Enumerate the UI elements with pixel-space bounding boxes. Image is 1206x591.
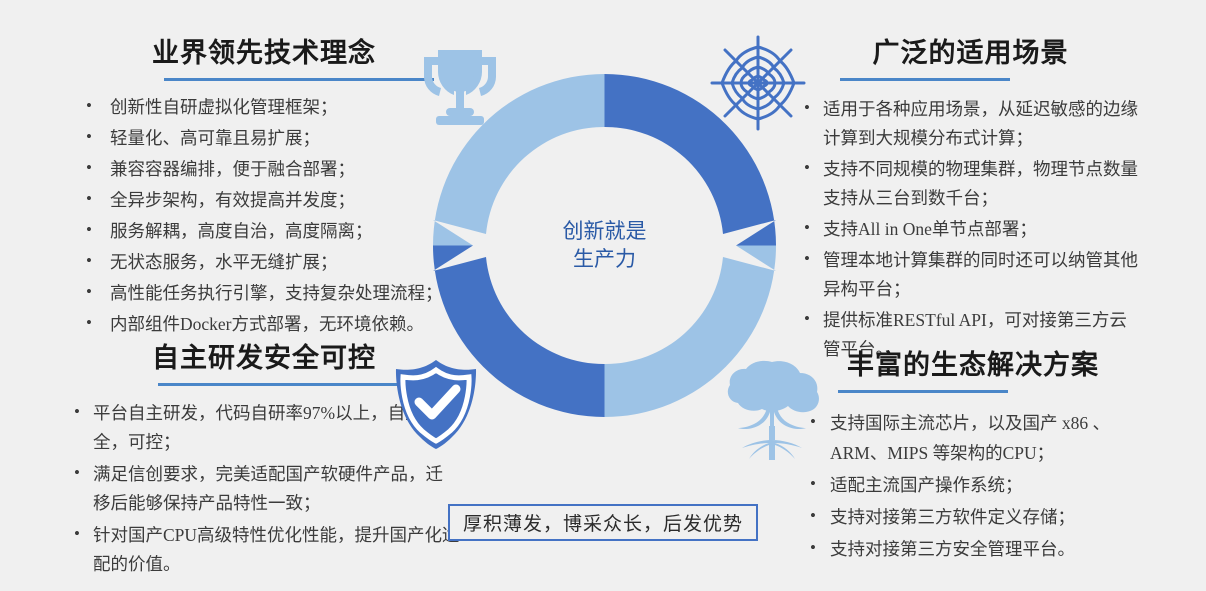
slide-canvas: 业界领先技术理念 创新性自研虚拟化管理框架； 轻量化、高可靠且易扩展； 兼容容器… — [0, 0, 1206, 591]
list-item: 高性能任务执行引擎，支持复杂处理流程； — [68, 279, 460, 308]
title-underline-top-right — [840, 78, 1010, 81]
list-item: 兼容容器编排，便于融合部署； — [68, 155, 460, 184]
slogan-text: 厚积薄发，博采众长，后发优势 — [463, 509, 743, 536]
list-item: 全异步架构，有效提高并发度； — [68, 186, 460, 215]
list-item: 内部组件Docker方式部署，无环境依赖。 — [68, 310, 460, 339]
list-item: 满足信创要求，完美适配国产软硬件产品，迁移后能够保持产品特性一致； — [68, 460, 460, 519]
list-item: 无状态服务，水平无缝扩展； — [68, 248, 460, 277]
list-item: 支持不同规模的物理集群，物理节点数量支持从三台到数千台； — [798, 155, 1143, 213]
title-underline-top-left — [164, 78, 434, 81]
list-item: 管理本地计算集群的同时还可以纳管其他异构平台； — [798, 246, 1143, 304]
bullet-list-top-left: 创新性自研虚拟化管理框架； 轻量化、高可靠且易扩展； 兼容容器编排，便于融合部署… — [68, 93, 460, 339]
list-item: 轻量化、高可靠且易扩展； — [68, 124, 460, 153]
list-item: 创新性自研虚拟化管理框架； — [68, 93, 460, 122]
shield-check-icon — [390, 355, 482, 455]
donut-inner-hole — [526, 167, 684, 325]
list-item: 适配主流国产操作系统； — [798, 470, 1148, 500]
list-item: 支持对接第三方安全管理平台。 — [798, 534, 1148, 564]
spider-web-icon — [708, 33, 808, 133]
list-item: 服务解耦，高度自治，高度隔离； — [68, 217, 460, 246]
list-item: 适用于各种应用场景，从延迟敏感的边缘计算到大规模分布式计算； — [798, 95, 1143, 153]
title-underline-bottom-left — [158, 383, 413, 386]
list-item: 支持对接第三方软件定义存储； — [798, 502, 1148, 532]
section-title-bottom-right: 丰富的生态解决方案 — [798, 350, 1148, 381]
section-title-top-right: 广泛的适用场景 — [798, 38, 1143, 69]
section-bottom-right: 丰富的生态解决方案 支持国际主流芯片，以及国产 x86 、ARM、MIPS 等架… — [798, 350, 1148, 567]
bullet-list-bottom-right: 支持国际主流芯片，以及国产 x86 、ARM、MIPS 等架构的CPU； 适配主… — [798, 408, 1148, 564]
bullet-list-top-right: 适用于各种应用场景，从延迟敏感的边缘计算到大规模分布式计算； 支持不同规模的物理… — [798, 95, 1143, 364]
trophy-icon — [414, 40, 506, 136]
slogan-banner: 厚积薄发，博采众长，后发优势 — [448, 504, 758, 541]
section-title-top-left: 业界领先技术理念 — [68, 38, 460, 69]
title-underline-bottom-right — [838, 390, 1008, 393]
tree-icon — [722, 356, 822, 464]
list-item: 针对国产CPU高级特性优化性能，提升国产化适配的价值。 — [68, 521, 460, 580]
section-top-right: 广泛的适用场景 适用于各种应用场景，从延迟敏感的边缘计算到大规模分布式计算； 支… — [798, 38, 1143, 366]
section-top-left: 业界领先技术理念 创新性自研虚拟化管理框架； 轻量化、高可靠且易扩展； 兼容容器… — [68, 38, 460, 341]
list-item: 支持国际主流芯片，以及国产 x86 、ARM、MIPS 等架构的CPU； — [798, 408, 1148, 468]
list-item: 支持All in One单节点部署； — [798, 215, 1143, 244]
